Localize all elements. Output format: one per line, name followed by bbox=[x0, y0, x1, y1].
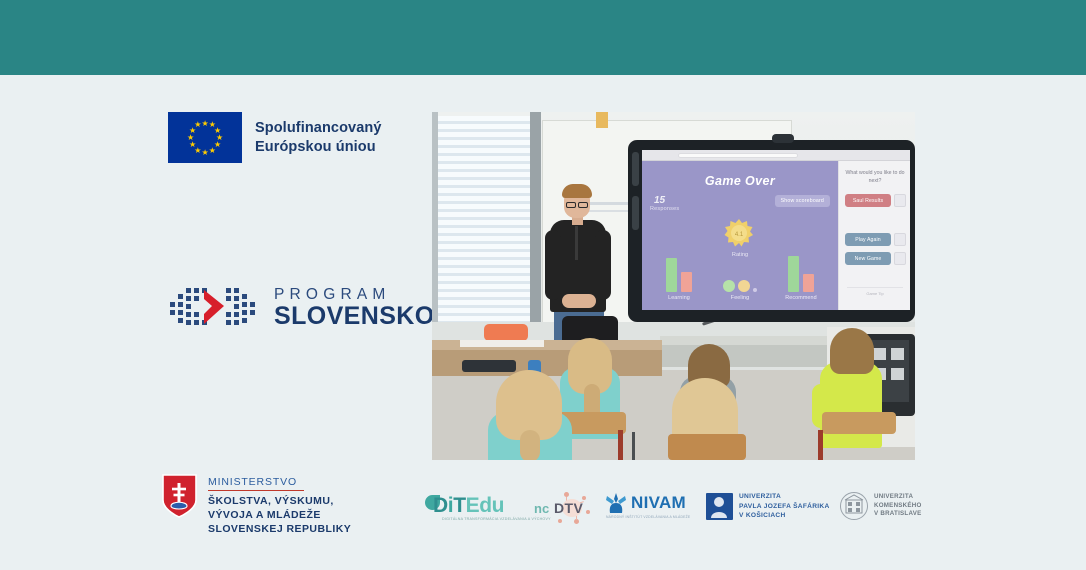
program-slovensko-block: PROGRAM SLOVENSKO bbox=[168, 282, 435, 334]
new-game-button[interactable]: New Game bbox=[845, 252, 891, 265]
uk-line-3: V BRATISLAVE bbox=[874, 510, 921, 517]
eu-star-icon: ★ bbox=[209, 147, 216, 154]
emoji-happy-icon bbox=[723, 280, 735, 292]
uk-line-1: UNIVERZITA bbox=[874, 493, 913, 500]
display-screen: Game Over 15 Responses Show scoreboard 4… bbox=[642, 150, 910, 310]
upjs-line-1: UNIVERZITA bbox=[739, 493, 781, 500]
partner-ditedu: DiTEdu DIGITÁLNA TRANSFORMÁCIA VZDELÁVAN… bbox=[425, 493, 545, 523]
bar-negative bbox=[803, 274, 814, 292]
save-results-icon bbox=[894, 194, 906, 207]
game-over-title: Game Over bbox=[642, 174, 838, 188]
bar-group-learning: Learning bbox=[656, 250, 702, 301]
partner-logos: DiTEdu DIGITÁLNA TRANSFORMÁCIA VZDELÁVAN… bbox=[0, 480, 1086, 540]
program-slovensko-logo bbox=[168, 282, 264, 334]
save-results-button[interactable]: Saul Results bbox=[845, 194, 891, 207]
responses-count: 15 bbox=[654, 195, 665, 206]
upjs-portrait-icon bbox=[706, 493, 733, 520]
nivam-subtitle: NÁRODNÝ INŠTITÚT VZDELÁVANIA A MLÁDEŽE bbox=[606, 515, 690, 519]
display-camera-icon bbox=[772, 134, 794, 143]
page-root: ★★★★★★★★★★★★ Spolufinancovaný Európskou … bbox=[0, 0, 1086, 570]
bar-positive bbox=[666, 258, 677, 292]
play-again-button[interactable]: Play Again bbox=[845, 233, 891, 246]
sidebar-footer: Game Tip bbox=[847, 287, 903, 301]
window-blinds bbox=[432, 116, 540, 328]
eu-star-icon: ★ bbox=[202, 149, 209, 156]
show-scoreboard-button[interactable]: Show scoreboard bbox=[775, 195, 830, 207]
bar-label-feeling: Feeling bbox=[717, 295, 763, 301]
bar-positive bbox=[788, 256, 799, 292]
screen-sidebar: What would you like to do next? Saul Res… bbox=[838, 161, 910, 310]
program-slovensko-line-1: PROGRAM bbox=[274, 287, 435, 303]
eu-star-icon: ★ bbox=[194, 121, 201, 128]
eu-line-1: Spolufinancovaný bbox=[255, 120, 381, 136]
classroom-photo: Game Over 15 Responses Show scoreboard 4… bbox=[432, 112, 915, 460]
emoji-neutral-icon bbox=[738, 280, 750, 292]
partner-ncdtv: nc DTV bbox=[534, 492, 598, 522]
partner-uk-bratislava: UNIVERZITA KOMENSKÉHO V BRATISLAVE bbox=[840, 492, 922, 520]
new-game-icon bbox=[894, 252, 906, 265]
game-results-area: Game Over 15 Responses Show scoreboard 4… bbox=[642, 161, 838, 310]
uk-text: UNIVERZITA KOMENSKÉHO V BRATISLAVE bbox=[874, 493, 922, 520]
bar-label-recommend: Recommend bbox=[778, 295, 824, 301]
nivam-figure-icon bbox=[605, 491, 627, 515]
sidebar-question: What would you like to do next? bbox=[844, 170, 906, 186]
svg-text:4.1: 4.1 bbox=[735, 232, 744, 238]
partner-upjs: UNIVERZITA PAVLA JOZEFA ŠAFÁRIKA V KOŠIC… bbox=[706, 492, 830, 521]
upjs-line-2: PAVLA JOZEFA ŠAFÁRIKA bbox=[739, 503, 830, 510]
ditedu-d: D bbox=[433, 494, 448, 517]
emoji-small-icon bbox=[753, 288, 757, 292]
program-slovensko-line-2: SLOVENSKO bbox=[274, 304, 435, 329]
header-bar bbox=[0, 0, 1086, 75]
ncdtv-prefix: nc bbox=[534, 501, 549, 516]
play-again-icon bbox=[894, 233, 906, 246]
program-slovensko-text: PROGRAM SLOVENSKO bbox=[274, 287, 435, 330]
upjs-text: UNIVERZITA PAVLA JOZEFA ŠAFÁRIKA V KOŠIC… bbox=[739, 492, 830, 521]
browser-toolbar bbox=[642, 150, 910, 161]
nivam-wordmark: NIVAM bbox=[631, 493, 686, 513]
address-bar[interactable] bbox=[678, 153, 798, 158]
bar-label-learning: Learning bbox=[656, 295, 702, 301]
uk-line-2: KOMENSKÉHO bbox=[874, 502, 922, 509]
eu-line-2: Európskou úniou bbox=[255, 139, 376, 155]
ncdtv-suffix: DTV bbox=[554, 500, 583, 516]
eu-star-icon: ★ bbox=[202, 120, 209, 127]
uk-seal-icon bbox=[840, 492, 868, 520]
ditedu-t: T bbox=[453, 494, 465, 517]
ditedu-edu: Edu bbox=[466, 494, 504, 517]
responses-label: Responses bbox=[650, 206, 679, 212]
bar-group-feeling: Feeling bbox=[717, 250, 763, 301]
partner-nivam: NIVAM NÁRODNÝ INŠTITÚT VZDELÁVANIA A MLÁ… bbox=[605, 491, 686, 515]
eu-funding-text: Spolufinancovaný Európskou úniou bbox=[255, 119, 381, 156]
rating-badge-icon: 4.1 bbox=[724, 218, 754, 248]
bar-negative bbox=[681, 272, 692, 292]
program-slovensko-mark-svg bbox=[168, 282, 264, 334]
eu-star-icon: ★ bbox=[189, 141, 196, 148]
bar-group-recommend: Recommend bbox=[778, 250, 824, 301]
eu-funding-block: ★★★★★★★★★★★★ Spolufinancovaný Európskou … bbox=[168, 112, 381, 163]
teacher-glasses bbox=[566, 202, 576, 208]
upjs-line-3: V KOŠICIACH bbox=[739, 512, 786, 519]
pencil-case bbox=[484, 324, 528, 341]
eu-star-icon: ★ bbox=[187, 134, 194, 141]
eu-flag-icon: ★★★★★★★★★★★★ bbox=[168, 112, 242, 163]
